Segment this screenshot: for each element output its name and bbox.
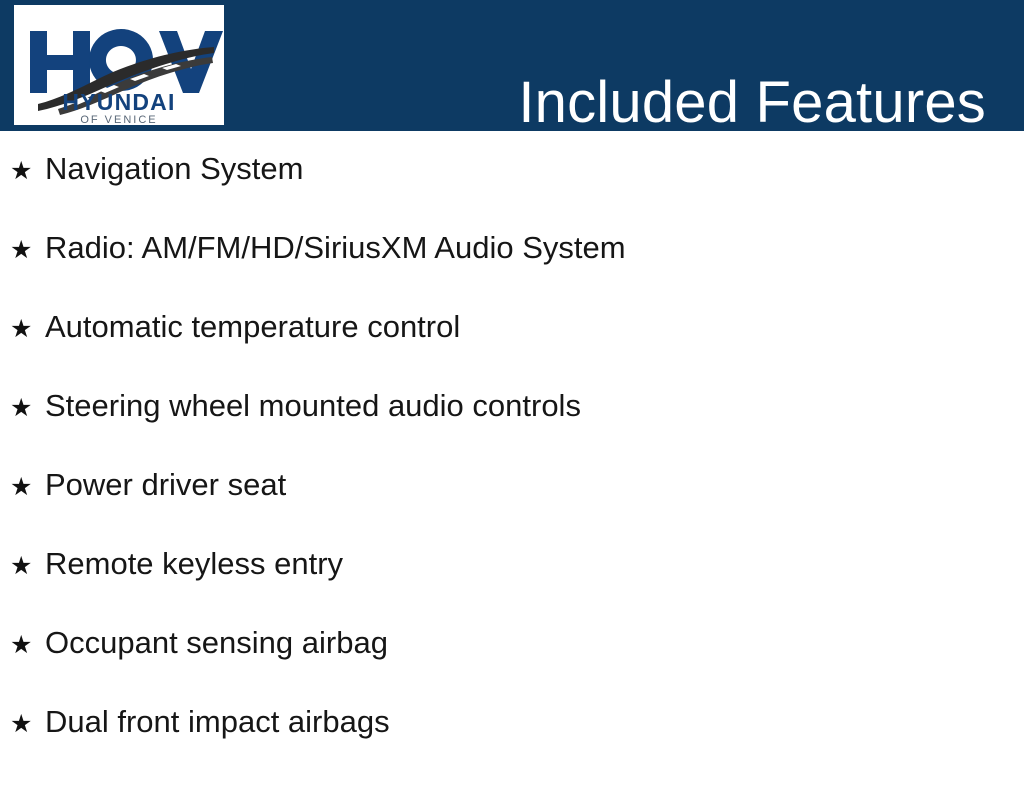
star-bullet-icon: ★ [10,554,45,579]
star-bullet-icon: ★ [10,712,45,737]
included-features-list: ★ Navigation System ★ Radio: AM/FM/HD/Si… [0,131,1024,785]
list-item-label: Steering wheel mounted audio controls [45,390,581,421]
star-bullet-icon: ★ [10,633,45,658]
list-item: ★ Occupant sensing airbag [0,627,1024,706]
list-item-label: Dual front impact airbags [45,706,390,737]
list-item: ★ Navigation System [0,131,1024,232]
list-item: ★ Power driver seat [0,469,1024,548]
svg-text:HYUNDAI: HYUNDAI [62,89,175,115]
list-item: ★ Radio: AM/FM/HD/SiriusXM Audio System [0,232,1024,311]
list-item-label: Remote keyless entry [45,548,343,579]
svg-text:OF VENICE: OF VENICE [80,114,157,125]
list-item-label: Power driver seat [45,469,286,500]
hov-hyundai-logo-icon: HYUNDAI OF VENICE [14,5,224,125]
list-item-label: Navigation System [45,153,303,184]
list-item-label: Automatic temperature control [45,311,460,342]
list-item: ★ Automatic temperature control [0,311,1024,390]
list-item: ★ Remote keyless entry [0,548,1024,627]
list-item-label: Radio: AM/FM/HD/SiriusXM Audio System [45,232,626,263]
list-item: ★ Dual front impact airbags [0,706,1024,785]
page-title: Included Features [518,67,986,139]
star-bullet-icon: ★ [10,317,45,342]
list-item: ★ Steering wheel mounted audio controls [0,390,1024,469]
list-item-label: Occupant sensing airbag [45,627,388,658]
slide: Included Features HYUNDAI OF VE [0,0,1024,768]
star-bullet-icon: ★ [10,475,45,500]
star-bullet-icon: ★ [10,159,45,184]
star-bullet-icon: ★ [10,238,45,263]
dealer-logo[interactable]: HYUNDAI OF VENICE [14,5,224,125]
star-bullet-icon: ★ [10,396,45,421]
